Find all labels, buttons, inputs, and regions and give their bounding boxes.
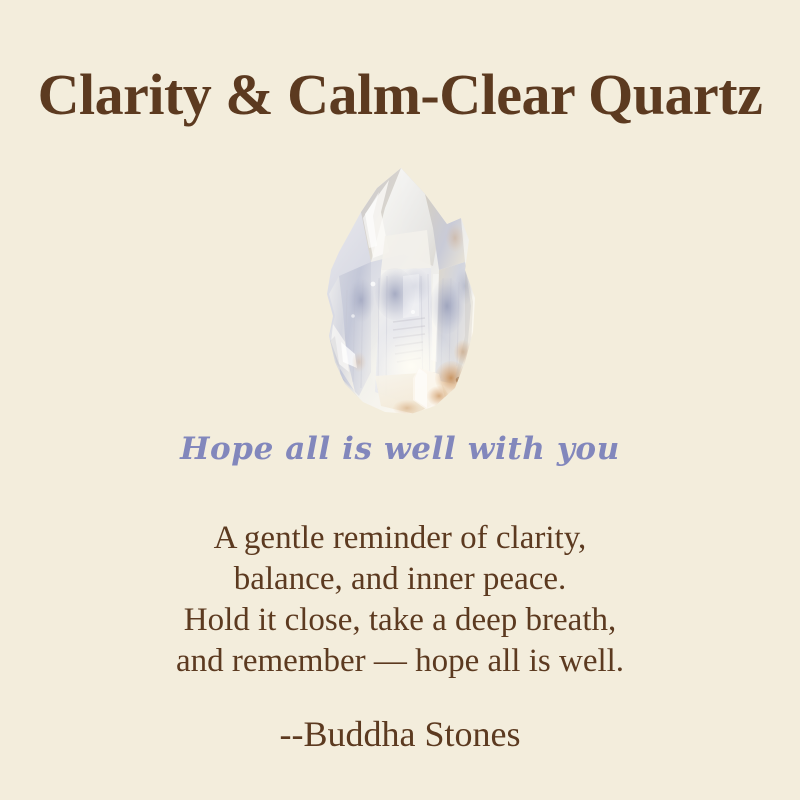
message-line: and remember — hope all is well. — [0, 641, 800, 682]
quartz-crystal-icon — [315, 166, 495, 418]
script-greeting: Hope all is well with you — [0, 428, 800, 470]
signature: --Buddha Stones — [0, 712, 800, 756]
message-line: balance, and inner peace. — [0, 559, 800, 600]
message-line: A gentle reminder of clarity, — [0, 518, 800, 559]
page-title: Clarity & Calm-Clear Quartz — [0, 64, 800, 126]
message-body: A gentle reminder of clarity, balance, a… — [0, 518, 800, 682]
greeting-card: Clarity & Calm-Clear Quartz — [0, 0, 800, 800]
crystal-illustration — [315, 166, 495, 418]
message-line: Hold it close, take a deep breath, — [0, 600, 800, 641]
